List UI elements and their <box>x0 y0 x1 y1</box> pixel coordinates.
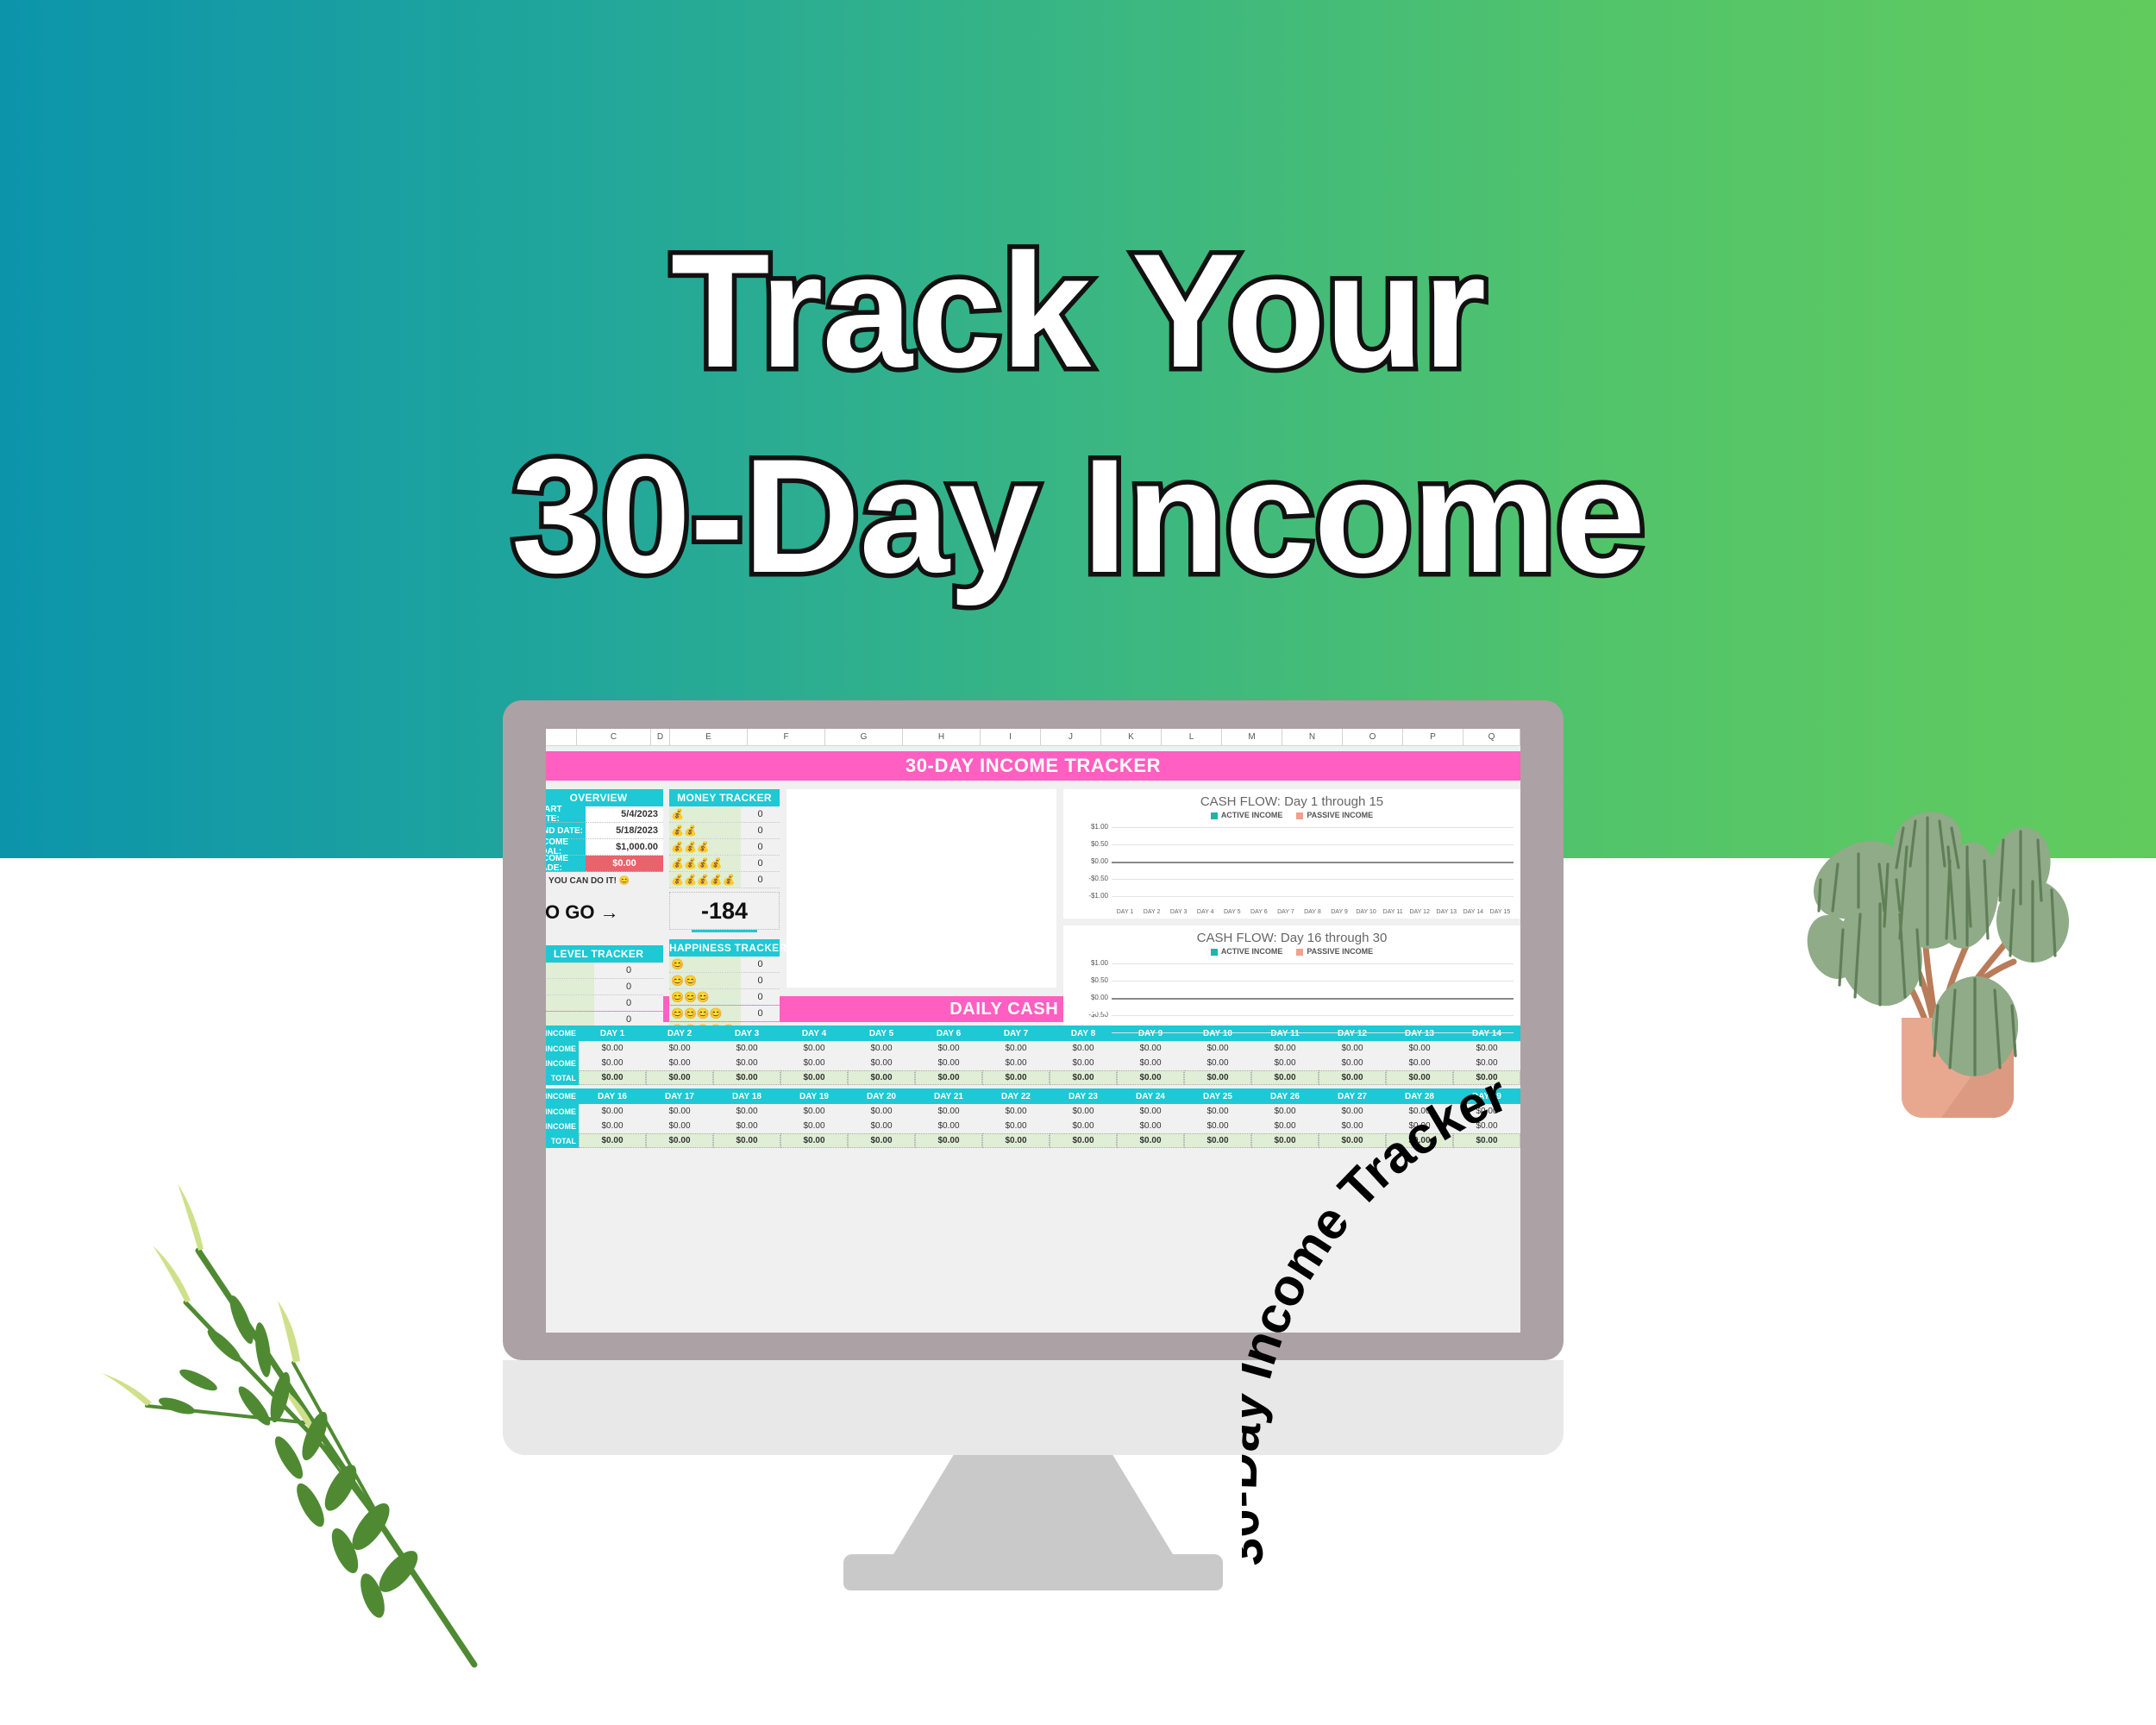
level-tracker-value[interactable]: 0 <box>594 995 663 1011</box>
cell-active-income[interactable]: $0.00 <box>848 1041 915 1056</box>
table-day-column: DAY 16$0.00$0.00$0.00 <box>579 1088 646 1148</box>
table-day-column: DAY 6$0.00$0.00$0.00 <box>915 1026 982 1085</box>
level-tracker-row: 0 <box>546 995 663 1012</box>
table-day-column: DAY 22$0.00$0.00$0.00 <box>982 1088 1050 1148</box>
overview-row-value[interactable]: 5/18/2023 <box>586 823 663 839</box>
cell-passive-income[interactable]: $0.00 <box>1117 1119 1184 1133</box>
table-row-label: PASSIVE INCOME <box>546 1056 579 1070</box>
money-tracker-row: 💰0 <box>669 806 780 823</box>
x-axis-tick: DAY 7 <box>1272 909 1299 915</box>
cell-active-income[interactable]: $0.00 <box>579 1041 646 1056</box>
column-header-D[interactable]: D <box>651 729 670 745</box>
cell-active-income[interactable]: $0.00 <box>780 1104 848 1119</box>
cell-total: $0.00 <box>1050 1133 1117 1148</box>
dashboard-top-region: OVERVIEW START DATE:5/4/2023END DATE:5/1… <box>546 789 1520 988</box>
chart-legend: ACTIVE INCOMEPASSIVE INCOME <box>1070 947 1514 956</box>
table-row-label: INCOME <box>546 1026 579 1041</box>
cell-active-income[interactable]: $0.00 <box>982 1041 1050 1056</box>
money-bag-icon-group: 💰💰💰 <box>669 839 741 855</box>
cell-passive-income[interactable]: $0.00 <box>982 1056 1050 1070</box>
money-tracker-value[interactable]: 0 <box>741 872 780 888</box>
smiley-face-icon-group: 😊😊😊😊 <box>669 1006 741 1021</box>
cell-passive-income[interactable]: $0.00 <box>579 1119 646 1133</box>
y-axis-tick: $0.50 <box>1070 840 1112 857</box>
table-day-column: DAY 8$0.00$0.00$0.00 <box>1050 1026 1117 1085</box>
money-tracker-value[interactable]: 0 <box>741 856 780 871</box>
column-header-Q[interactable]: Q <box>1463 729 1520 745</box>
x-axis-tick: DAY 11 <box>1380 909 1407 915</box>
table-day-header: DAY 3 <box>713 1026 780 1041</box>
happiness-tracker-value[interactable]: 0 <box>741 989 780 1005</box>
cell-total: $0.00 <box>1117 1070 1184 1085</box>
to-go-row: TO GO → <box>546 894 663 931</box>
chart-plot-area: $1.00$0.50$0.00-$0.50-$1.00 <box>1070 823 1514 909</box>
table-day-column: DAY 20$0.00$0.00$0.00 <box>848 1088 915 1148</box>
overview-row-value[interactable]: 5/4/2023 <box>586 806 663 823</box>
chart-title: CASH FLOW: Day 16 through 30 <box>1070 931 1514 945</box>
cell-passive-income[interactable]: $0.00 <box>713 1056 780 1070</box>
money-bag-icon-group: 💰 <box>669 806 741 822</box>
cell-active-income[interactable]: $0.00 <box>646 1104 713 1119</box>
table-day-header: DAY 4 <box>780 1026 848 1041</box>
cell-passive-income[interactable]: $0.00 <box>848 1056 915 1070</box>
table-row-label: ACTIVE INCOME <box>546 1041 579 1056</box>
x-axis-tick: DAY 8 <box>1299 909 1326 915</box>
cell-total: $0.00 <box>982 1070 1050 1085</box>
table-day-column: DAY 4$0.00$0.00$0.00 <box>780 1026 848 1085</box>
x-axis-tick: DAY 15 <box>1487 909 1514 915</box>
cell-passive-income[interactable]: $0.00 <box>713 1119 780 1133</box>
column-header-row[interactable] <box>546 729 577 745</box>
money-tracker-rows: 💰0💰💰0💰💰💰0💰💰💰💰0💰💰💰💰💰0 <box>669 806 780 888</box>
column-header-H[interactable]: H <box>903 729 981 745</box>
charts-column: CASH FLOW: Day 1 through 15ACTIVE INCOME… <box>1063 789 1520 988</box>
money-bag-icon-group: 💰💰💰💰💰 <box>669 872 741 888</box>
cell-total: $0.00 <box>982 1133 1050 1148</box>
legend-entry: ACTIVE INCOME <box>1211 811 1283 819</box>
level-tracker-value[interactable]: 0 <box>594 963 663 978</box>
column-header-J[interactable]: J <box>1041 729 1101 745</box>
smiley-face-icon-group: 😊 <box>669 957 741 972</box>
gridline <box>1112 827 1514 828</box>
y-axis-tick: -$0.50 <box>1070 875 1112 892</box>
x-axis-tick: DAY 4 <box>1192 909 1219 915</box>
curved-caption: 30-Day Income Tracker <box>1242 1044 1794 1613</box>
table-day-column: DAY 2$0.00$0.00$0.00 <box>646 1026 713 1085</box>
table-day-header: DAY 18 <box>713 1088 780 1104</box>
money-tracker-header: MONEY TRACKER <box>669 789 780 806</box>
cell-active-income[interactable]: $0.00 <box>579 1104 646 1119</box>
y-axis-tick: $0.50 <box>1070 976 1112 994</box>
table-day-header: DAY 16 <box>579 1088 646 1104</box>
legend-entry: PASSIVE INCOME <box>1296 947 1373 956</box>
legend-swatch <box>1211 949 1218 956</box>
motivation-text: 👍 YOU CAN DO IT! 😊 <box>546 872 663 890</box>
legend-swatch <box>1211 812 1218 819</box>
table-row-label: TOTAL <box>546 1133 579 1148</box>
table-day-header: DAY 7 <box>982 1026 1050 1041</box>
happiness-tracker-header: HAPPINESS TRACKER <box>669 939 780 957</box>
overview-header: OVERVIEW <box>546 789 663 806</box>
level-tracker-bar <box>546 963 594 978</box>
table-day-header: DAY 5 <box>848 1026 915 1041</box>
cell-active-income[interactable]: $0.00 <box>780 1041 848 1056</box>
x-axis-tick: DAY 10 <box>1353 909 1380 915</box>
cell-total: $0.00 <box>579 1133 646 1148</box>
happiness-tracker-value[interactable]: 0 <box>741 973 780 988</box>
happiness-tracker-row: 😊😊0 <box>669 973 780 989</box>
cell-passive-income[interactable]: $0.00 <box>915 1119 982 1133</box>
chart-plot-area: $1.00$0.50$0.00-$0.50-$1.00 <box>1070 959 1514 1045</box>
x-axis-tick: DAY 14 <box>1460 909 1487 915</box>
table-day-column: DAY 5$0.00$0.00$0.00 <box>848 1026 915 1085</box>
cell-total: $0.00 <box>848 1070 915 1085</box>
table-day-header: DAY 1 <box>579 1026 646 1041</box>
cell-passive-income[interactable]: $0.00 <box>780 1056 848 1070</box>
table-day-column: DAY 19$0.00$0.00$0.00 <box>780 1088 848 1148</box>
x-axis-tick: DAY 5 <box>1219 909 1245 915</box>
column-header-C[interactable]: C <box>577 729 651 745</box>
column-header-L[interactable]: L <box>1162 729 1222 745</box>
table-day-header: DAY 22 <box>982 1088 1050 1104</box>
cell-passive-income[interactable]: $0.00 <box>579 1056 646 1070</box>
table-day-column: DAY 1$0.00$0.00$0.00 <box>579 1026 646 1085</box>
money-tracker-panel: MONEY TRACKER 💰0💰💰0💰💰💰0💰💰💰💰0💰💰💰💰💰0 <box>669 789 780 888</box>
cell-total: $0.00 <box>915 1133 982 1148</box>
chart-grid <box>1112 959 1514 1045</box>
money-tracker-value[interactable]: 0 <box>741 839 780 855</box>
y-axis-tick: -$1.00 <box>1070 892 1112 909</box>
table-day-column: DAY 18$0.00$0.00$0.00 <box>713 1088 780 1148</box>
happiness-tracker-row: 😊0 <box>669 957 780 973</box>
money-tracker-value[interactable]: 0 <box>741 806 780 822</box>
x-axis-tick: DAY 3 <box>1165 909 1192 915</box>
table-row-label: PASSIVE INCOME <box>546 1119 579 1133</box>
cell-active-income[interactable]: $0.00 <box>646 1041 713 1056</box>
smiley-face-icon-group: 😊😊😊 <box>669 989 741 1005</box>
cell-active-income[interactable]: $0.00 <box>1050 1041 1117 1056</box>
cell-active-income[interactable]: $0.00 <box>713 1041 780 1056</box>
money-bag-icon-group: 💰💰💰💰 <box>669 856 741 871</box>
cell-active-income[interactable]: $0.00 <box>915 1104 982 1119</box>
x-axis-tick: DAY 2 <box>1138 909 1165 915</box>
money-tracker-row: 💰💰💰0 <box>669 839 780 856</box>
cell-passive-income[interactable]: $0.00 <box>1050 1056 1117 1070</box>
cell-total: $0.00 <box>646 1070 713 1085</box>
cell-total: $0.00 <box>1050 1070 1117 1085</box>
table-row-label: ACTIVE INCOME <box>546 1104 579 1119</box>
gridline <box>1112 1032 1514 1033</box>
level-tracker-bar <box>546 995 594 1011</box>
money-tracker-row: 💰💰💰💰0 <box>669 856 780 872</box>
gridline <box>1112 844 1514 845</box>
table-day-column: DAY 24$0.00$0.00$0.00 <box>1117 1088 1184 1148</box>
y-axis-tick: $1.00 <box>1070 823 1112 840</box>
cell-active-income[interactable]: $0.00 <box>915 1041 982 1056</box>
monitor-base <box>843 1554 1223 1590</box>
x-axis-tick: DAY 13 <box>1433 909 1460 915</box>
cell-active-income[interactable]: $0.00 <box>982 1104 1050 1119</box>
cell-passive-income[interactable]: $0.00 <box>915 1056 982 1070</box>
legend-swatch <box>1296 812 1303 819</box>
money-tracker-row: 💰💰0 <box>669 823 780 839</box>
cell-total: $0.00 <box>780 1133 848 1148</box>
cell-total: $0.00 <box>848 1133 915 1148</box>
cell-total: $0.00 <box>713 1070 780 1085</box>
legend-swatch <box>1296 949 1303 956</box>
cell-passive-income[interactable]: $0.00 <box>780 1119 848 1133</box>
gridline <box>1112 963 1514 964</box>
happiness-tracker-value[interactable]: 0 <box>741 957 780 972</box>
overview-row-label: START DATE: <box>546 806 586 823</box>
overview-row-value[interactable]: $1,000.00 <box>586 839 663 856</box>
x-axis-tick: DAY 12 <box>1407 909 1433 915</box>
overview-row: START DATE:5/4/2023 <box>546 806 663 823</box>
cell-passive-income[interactable]: $0.00 <box>1050 1119 1117 1133</box>
x-axis-tick: DAY 9 <box>1326 909 1353 915</box>
smiley-face-icon-group: 😊😊 <box>669 973 741 988</box>
column-header-O[interactable]: O <box>1343 729 1403 745</box>
x-axis-tick: DAY 1 <box>1112 909 1138 915</box>
money-bag-icon-group: 💰💰 <box>669 823 741 838</box>
table-row-label: TOTAL <box>546 1070 579 1085</box>
cell-active-income[interactable]: $0.00 <box>1050 1104 1117 1119</box>
cash-flow-chart-1: CASH FLOW: Day 1 through 15ACTIVE INCOME… <box>1063 789 1520 919</box>
chart-title: CASH FLOW: Day 1 through 15 <box>1070 794 1514 809</box>
chart-legend: ACTIVE INCOMEPASSIVE INCOME <box>1070 811 1514 819</box>
table-day-header: DAY 20 <box>848 1088 915 1104</box>
cell-passive-income[interactable]: $0.00 <box>848 1119 915 1133</box>
level-tracker-header: LEVEL TRACKER <box>546 945 663 963</box>
cell-active-income[interactable]: $0.00 <box>1117 1104 1184 1119</box>
gridline <box>1112 998 1514 1000</box>
table-day-header: DAY 21 <box>915 1088 982 1104</box>
cell-total: $0.00 <box>1117 1133 1184 1148</box>
table-day-column: DAY 23$0.00$0.00$0.00 <box>1050 1088 1117 1148</box>
gridline <box>1112 1015 1514 1016</box>
table-day-header: DAY 17 <box>646 1088 713 1104</box>
cell-passive-income[interactable]: $0.00 <box>646 1056 713 1070</box>
table-day-header: DAY 2 <box>646 1026 713 1041</box>
y-axis-tick: $1.00 <box>1070 959 1112 976</box>
overview-panel: OVERVIEW START DATE:5/4/2023END DATE:5/1… <box>546 789 663 890</box>
cell-passive-income[interactable]: $0.00 <box>1117 1056 1184 1070</box>
svg-text:30-Day Income Tracker: 30-Day Income Tracker <box>1242 1064 1515 1572</box>
chart-x-axis: DAY 1DAY 2DAY 3DAY 4DAY 5DAY 6DAY 7DAY 8… <box>1112 909 1514 915</box>
level-tracker-row: 0 <box>546 979 663 995</box>
chart-grid <box>1112 823 1514 909</box>
table-day-column: DAY 3$0.00$0.00$0.00 <box>713 1026 780 1085</box>
overview-rows: START DATE:5/4/2023END DATE:5/18/2023INC… <box>546 806 663 872</box>
monitor-neck <box>891 1455 1175 1559</box>
cell-total: $0.00 <box>579 1070 646 1085</box>
table-day-column: DAY 17$0.00$0.00$0.00 <box>646 1088 713 1148</box>
column-header-E[interactable]: E <box>670 729 748 745</box>
y-axis-tick: $0.00 <box>1070 857 1112 875</box>
to-go-underline <box>692 930 758 932</box>
x-axis-tick: DAY 6 <box>1245 909 1272 915</box>
to-go-value: -184 <box>669 892 780 930</box>
herb-sprig-illustration <box>95 1147 500 1682</box>
spreadsheet-title-banner: 30-DAY INCOME TRACKER <box>546 751 1520 781</box>
gridline <box>1112 981 1514 982</box>
level-tracker-row: 0 <box>546 963 663 979</box>
overview-row-label: INCOME MADE: <box>546 856 586 872</box>
column-header-K[interactable]: K <box>1101 729 1162 745</box>
happiness-tracker-row: 😊😊😊😊0 <box>669 1006 780 1022</box>
cell-total: $0.00 <box>646 1133 713 1148</box>
cell-total: $0.00 <box>915 1070 982 1085</box>
column-header-F[interactable]: F <box>748 729 825 745</box>
cash-flow-chart-2: CASH FLOW: Day 16 through 30ACTIVE INCOM… <box>1063 925 1520 1055</box>
legend-entry: ACTIVE INCOME <box>1211 947 1283 956</box>
level-tracker-bar <box>546 979 594 994</box>
table-day-header: DAY 8 <box>1050 1026 1117 1041</box>
gridline <box>1112 862 1514 863</box>
potted-plant-illustration <box>1798 742 2143 1121</box>
to-go-label: TO GO → <box>546 901 619 924</box>
level-tracker-value[interactable]: 0 <box>594 979 663 994</box>
happiness-tracker-value[interactable]: 0 <box>741 1006 780 1021</box>
table-day-header: DAY 24 <box>1117 1088 1184 1104</box>
happiness-tracker-row: 😊😊😊0 <box>669 989 780 1006</box>
cell-total: $0.00 <box>713 1133 780 1148</box>
cell-passive-income[interactable]: $0.00 <box>646 1119 713 1133</box>
spreadsheet-column-headers: CDEFGHIJKLMNOPQ <box>546 729 1520 746</box>
money-tracker-row: 💰💰💰💰💰0 <box>669 872 780 888</box>
table-day-header: DAY 19 <box>780 1088 848 1104</box>
column-header-N[interactable]: N <box>1282 729 1343 745</box>
overview-row: INCOME MADE:$0.00 <box>546 856 663 872</box>
table-day-column: DAY 7$0.00$0.00$0.00 <box>982 1026 1050 1085</box>
table-row-label: INCOME <box>546 1088 579 1104</box>
column-header-M[interactable]: M <box>1222 729 1282 745</box>
table-row-labels: INCOMEACTIVE INCOMEPASSIVE INCOMETOTAL <box>546 1026 579 1085</box>
table-day-header: DAY 23 <box>1050 1088 1117 1104</box>
column-header-I[interactable]: I <box>981 729 1041 745</box>
column-header-G[interactable]: G <box>825 729 903 745</box>
chart-y-axis: $1.00$0.50$0.00-$0.50-$1.00 <box>1070 823 1112 909</box>
cell-passive-income[interactable]: $0.00 <box>982 1119 1050 1133</box>
table-day-header: DAY 6 <box>915 1026 982 1041</box>
gridline <box>1112 896 1514 897</box>
money-tracker-value[interactable]: 0 <box>741 823 780 838</box>
empty-panel <box>787 789 1056 988</box>
legend-entry: PASSIVE INCOME <box>1296 811 1373 819</box>
table-row-labels: INCOMEACTIVE INCOMEPASSIVE INCOMETOTAL <box>546 1088 579 1148</box>
cell-total: $0.00 <box>780 1070 848 1085</box>
overview-row-value[interactable]: $0.00 <box>586 856 663 872</box>
cell-active-income[interactable]: $0.00 <box>713 1104 780 1119</box>
column-header-P[interactable]: P <box>1403 729 1463 745</box>
happiness-tracker-panel: HAPPINESS TRACKER 😊0😊😊0😊😊😊0😊😊😊😊0😊😊😊😊😊0 <box>669 939 780 1038</box>
table-day-column: DAY 21$0.00$0.00$0.00 <box>915 1088 982 1148</box>
gridline <box>1112 879 1514 880</box>
cell-active-income[interactable]: $0.00 <box>848 1104 915 1119</box>
